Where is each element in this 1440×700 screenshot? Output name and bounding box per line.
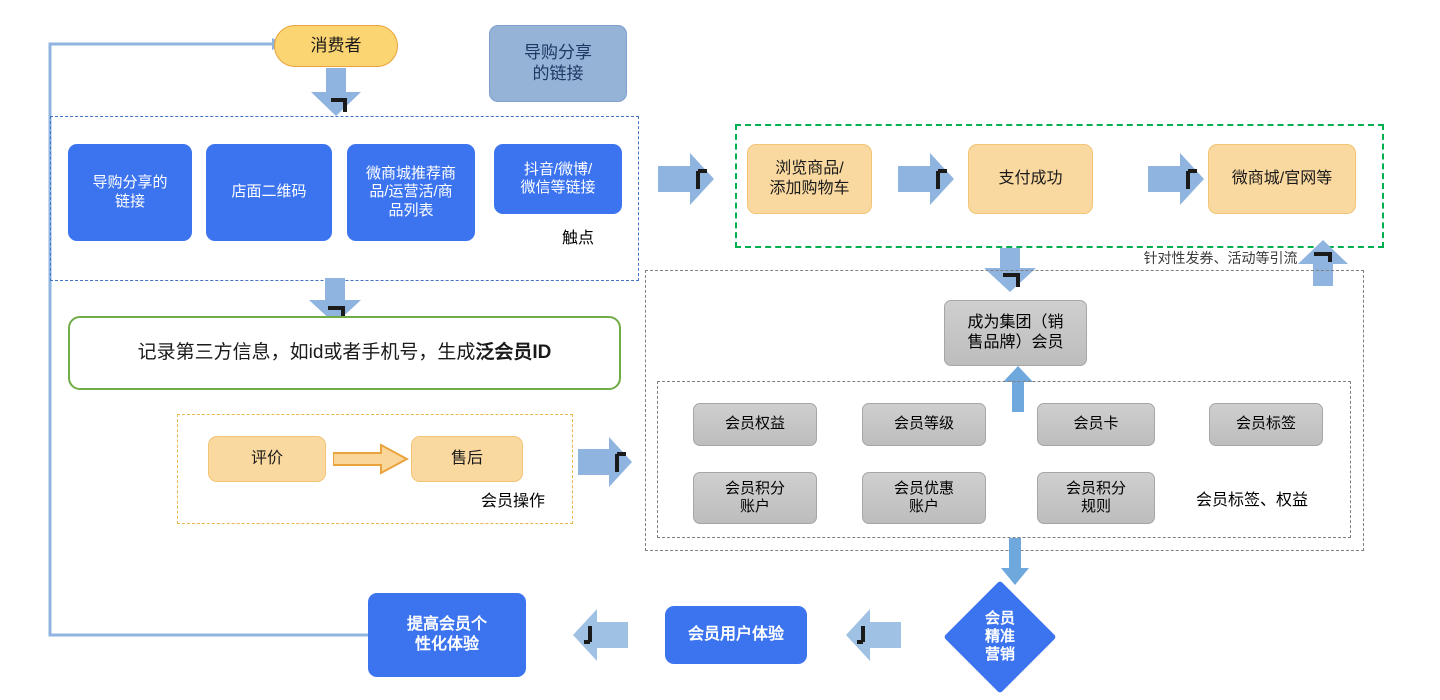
touchpoint-item-1[interactable]: 店面二维码 (206, 144, 332, 241)
guide-share-link-label: 导购分享 的链接 (524, 43, 592, 84)
member-ops-item-1[interactable]: 售后 (411, 436, 523, 482)
arrow-right-purchase-2 (1148, 153, 1206, 205)
become-member-label: 成为集团（销 售品牌）会员 (967, 313, 1063, 352)
touchpoint-item-3[interactable]: 抖音/微博/ 微信等链接 (494, 144, 622, 214)
touchpoint-group-caption: 触点 (533, 224, 623, 248)
arrow-down-consumer (305, 68, 367, 118)
member-ops-item-0-label: 评价 (251, 449, 283, 469)
arrow-right-from-member-ops (578, 437, 634, 487)
touchpoint-item-1-label: 店面二维码 (231, 183, 306, 201)
flowchart-canvas: 消费者 导购分享 的链接 导购分享的 链接 店面二维码 微商城推荐商 品/运营活… (0, 0, 1440, 700)
purchase-item-1[interactable]: 支付成功 (968, 144, 1093, 214)
precision-marketing-node[interactable]: 会员 精准 营销 (944, 581, 1056, 693)
consumer-node[interactable]: 消费者 (274, 25, 398, 67)
member-ops-group-caption: 会员操作 (461, 487, 565, 511)
improve-experience-label: 提高会员个 性化体验 (407, 615, 487, 654)
touchpoint-item-0-label: 导购分享的 链接 (92, 174, 167, 211)
member-attr-积分规则[interactable]: 会员积分 规则 (1037, 472, 1155, 524)
guide-share-link-node[interactable]: 导购分享 的链接 (489, 25, 627, 102)
arrow-right-to-purchase (658, 153, 716, 205)
member-attr-标签[interactable]: 会员标签 (1209, 403, 1323, 446)
member-attr-会员卡[interactable]: 会员卡 (1037, 403, 1155, 446)
touchpoint-item-2[interactable]: 微商城推荐商 品/运营活/商 品列表 (347, 144, 475, 241)
member-attr-积分账户[interactable]: 会员积分 账户 (693, 472, 817, 524)
member-attr-权益[interactable]: 会员权益 (693, 403, 817, 446)
purchase-item-0-label: 浏览商品/ 添加购物车 (769, 159, 849, 198)
member-attr-等级[interactable]: 会员等级 (862, 403, 986, 446)
member-attr-优惠账户[interactable]: 会员优惠 账户 (862, 472, 986, 524)
purchase-item-2[interactable]: 微商城/官网等 (1208, 144, 1356, 214)
touchpoint-item-0[interactable]: 导购分享的 链接 (68, 144, 192, 241)
arrow-right-purchase-1 (898, 153, 956, 205)
improve-experience-node[interactable]: 提高会员个 性化体验 (368, 593, 526, 677)
touchpoint-item-2-label: 微商城推荐商 品/运营活/商 品列表 (366, 165, 456, 220)
precision-marketing-label: 会员 精准 营销 (944, 581, 1056, 693)
arrow-left-to-improve (572, 608, 628, 662)
member-ops-item-0[interactable]: 评价 (208, 436, 326, 482)
become-member-node[interactable]: 成为集团（销 售品牌）会员 (944, 300, 1087, 366)
arrow-right-member-ops (333, 443, 409, 475)
purchase-item-1-label: 支付成功 (998, 169, 1062, 189)
record-id-text: 记录第三方信息，如id或者手机号，生成泛会员ID (138, 341, 552, 364)
record-id-bold: 泛会员ID (475, 342, 551, 363)
purchase-item-0[interactable]: 浏览商品/ 添加购物车 (747, 144, 872, 214)
touchpoint-item-3-label: 抖音/微博/ 微信等链接 (520, 161, 595, 198)
record-id-plain: 记录第三方信息，如id或者手机号，生成 (138, 342, 476, 363)
arrow-left-to-experience (845, 608, 901, 662)
member-experience-label: 会员用户体验 (688, 625, 784, 645)
consumer-label: 消费者 (311, 36, 362, 57)
member-experience-node[interactable]: 会员用户体验 (665, 606, 807, 664)
member-ops-item-1-label: 售后 (451, 449, 483, 469)
member-group-caption: 会员标签、权益 (1196, 486, 1356, 510)
arrow-down-to-diamond (1000, 538, 1030, 586)
record-id-node[interactable]: 记录第三方信息，如id或者手机号，生成泛会员ID (68, 316, 621, 390)
purchase-item-2-label: 微商城/官网等 (1232, 169, 1332, 189)
